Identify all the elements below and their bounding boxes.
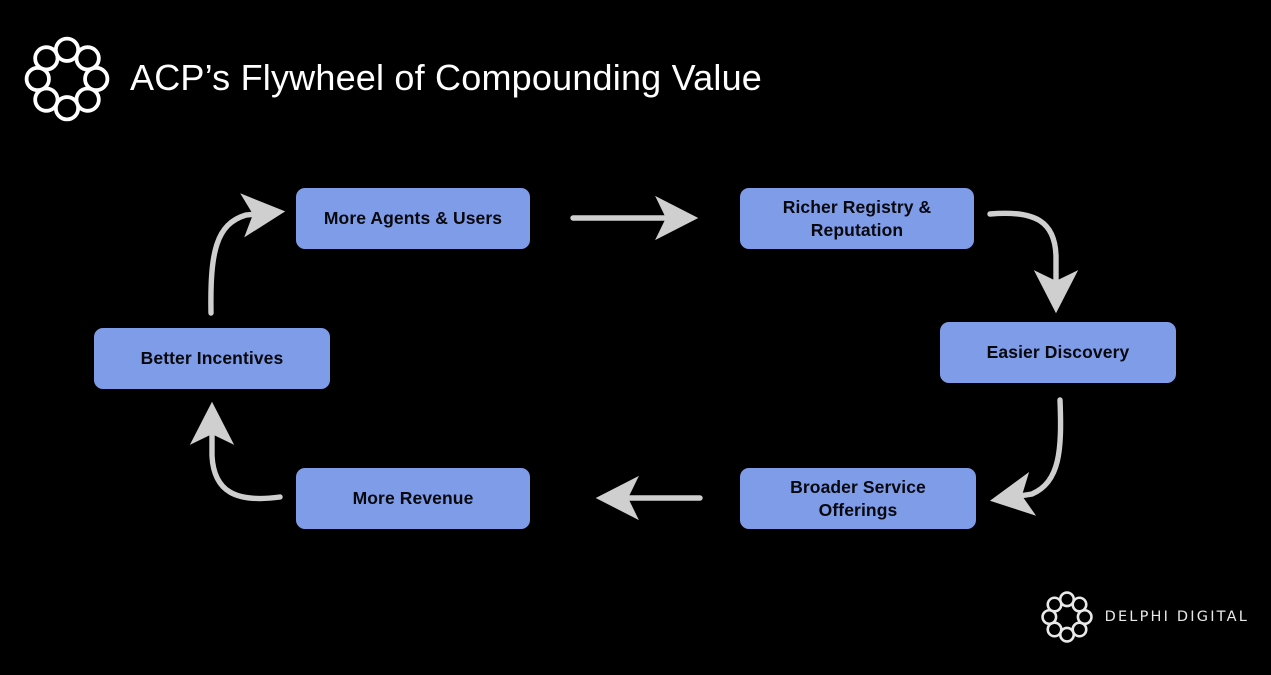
edge-incentives-to-agents [211,213,268,313]
edge-revenue-to-incentives [212,419,280,499]
node-broader-service[interactable]: Broader Service Offerings [740,468,976,529]
edge-registry-to-discovery [990,213,1056,296]
flywheel-diagram: More Agents & Users Richer Registry & Re… [0,0,1271,675]
delphi-knot-logo-icon [1041,591,1093,643]
edge-discovery-to-service [1007,400,1061,498]
footer-brand: DELPHI DIGITAL [1041,591,1249,643]
node-richer-registry[interactable]: Richer Registry & Reputation [740,188,974,249]
slide-canvas: ACP’s Flywheel of Compounding Value More… [0,0,1271,675]
node-more-agents-users[interactable]: More Agents & Users [296,188,530,249]
brand-wordmark: DELPHI DIGITAL [1105,609,1249,625]
node-easier-discovery[interactable]: Easier Discovery [940,322,1176,383]
node-better-incentives[interactable]: Better Incentives [94,328,330,389]
node-more-revenue[interactable]: More Revenue [296,468,530,529]
